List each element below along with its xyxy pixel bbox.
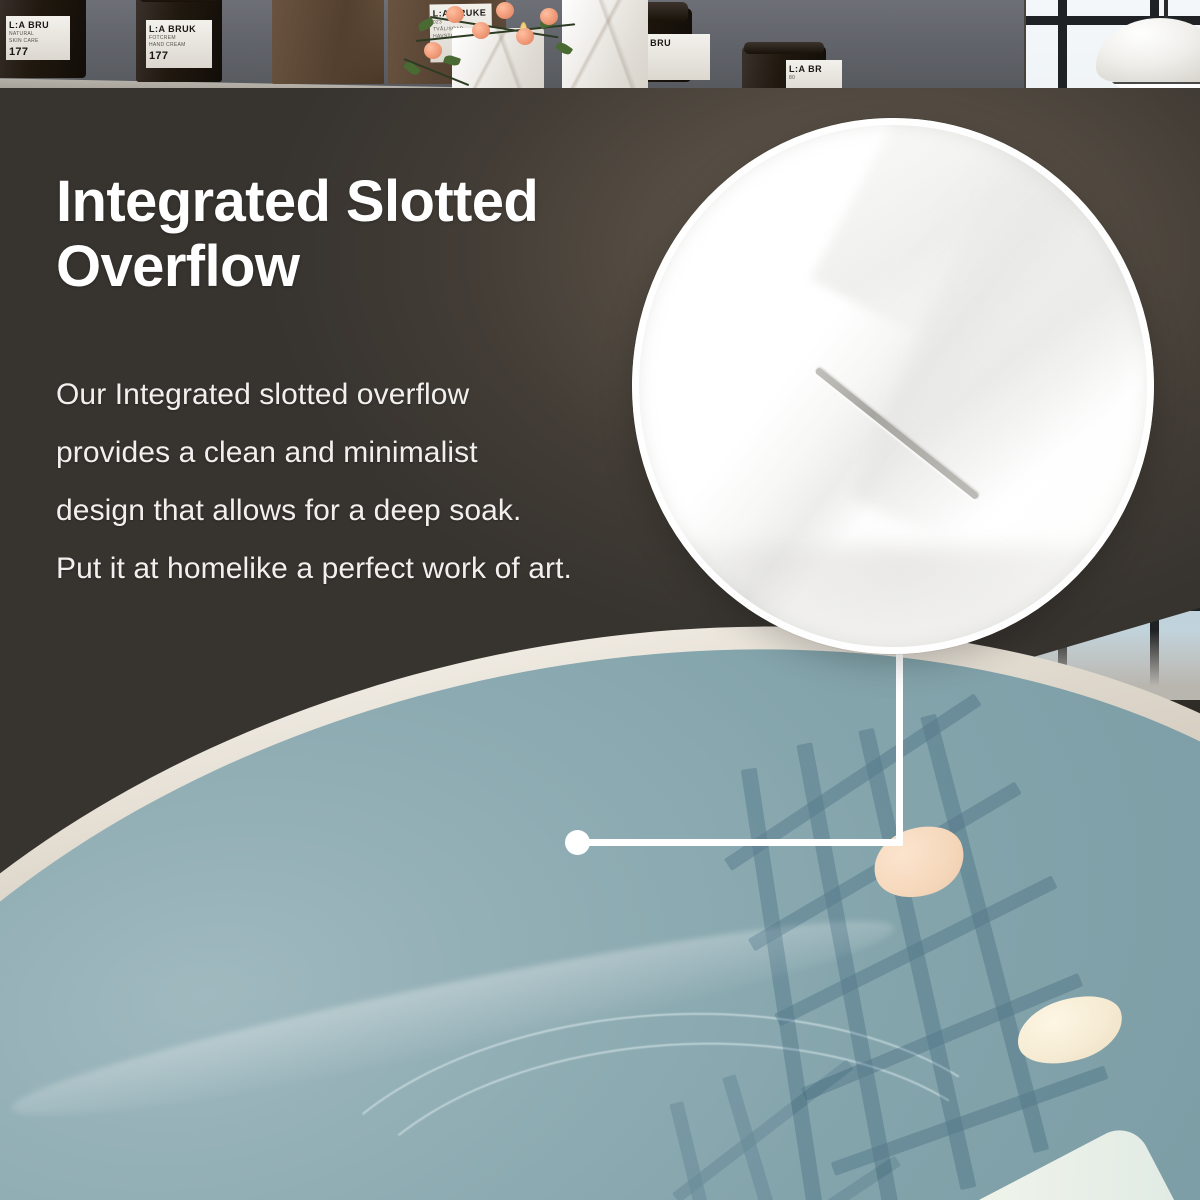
product-kraft-box [272, 0, 384, 84]
blossom [424, 42, 442, 59]
body-copy: Our Integrated slotted overflow provides… [56, 366, 676, 599]
product-label: L:A BRUNATURALSKIN CARE177 [6, 16, 70, 60]
marble-vase-right [562, 0, 648, 102]
blossom [540, 8, 558, 25]
product-lid [744, 42, 824, 54]
body-line-3: design that allows for a deep soak. [56, 482, 676, 540]
callout-leader-vertical [896, 640, 903, 846]
headline-line-1: Integrated Slotted [56, 170, 676, 235]
body-line-4: Put it at homelike a perfect work of art… [56, 540, 676, 598]
magnifier-ring [632, 118, 1154, 654]
copy-block: Integrated Slotted Overflow Our Integrat… [56, 170, 676, 599]
blossom [496, 2, 514, 19]
bathtub [0, 600, 1200, 1200]
page-title: Integrated Slotted Overflow [56, 170, 676, 300]
blossom [516, 28, 534, 45]
headline-line-2: Overflow [56, 235, 676, 300]
body-line-1: Our Integrated slotted overflow [56, 366, 676, 424]
product-feature-image: L:A BRUNATURALSKIN CARE177 L:A BRUKFOTCR… [0, 0, 1200, 1200]
bathtub-water [0, 600, 1200, 1200]
product-label: L:A BRUKFOTCREMHAND CREAM177 [146, 20, 212, 68]
body-line-2: provides a clean and minimalist [56, 424, 676, 482]
blossom [446, 6, 464, 23]
callout-target-dot [565, 830, 590, 855]
product-lid [140, 0, 218, 2]
blossom [472, 22, 490, 39]
callout-leader-horizontal [578, 839, 903, 846]
magnified-detail-circle [632, 118, 1154, 654]
